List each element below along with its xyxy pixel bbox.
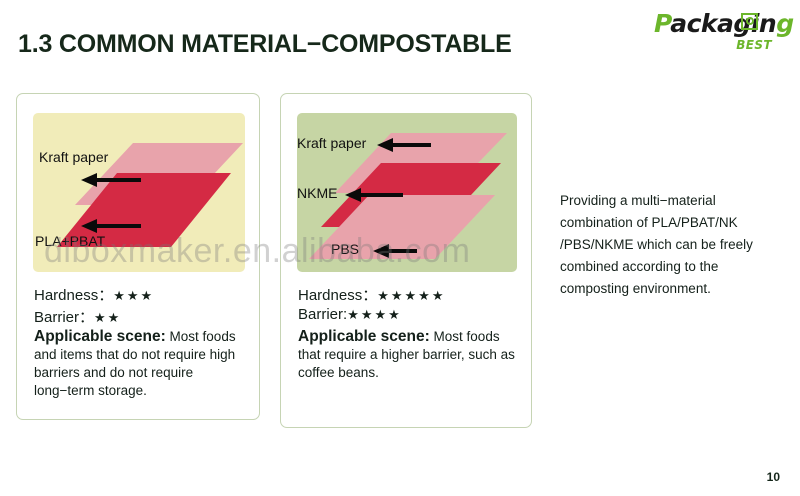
logo-tagline: BEST (654, 38, 772, 52)
hardness-stars-1: ★★★ (113, 288, 154, 303)
sheet-pbs (307, 193, 499, 287)
hardness-row-2: Hardness：★★★★★ (298, 284, 445, 305)
logo-letter-g: g (776, 9, 793, 38)
material-card-1: Kraft paper PLA+PBAT Hardness：★★★ Barrie… (16, 93, 260, 420)
hardness-row-1: Hardness：★★★ (34, 284, 154, 305)
logo-letter-p: P (654, 9, 670, 38)
layer-label-kraft-paper-2: Kraft paper (297, 135, 366, 151)
material-diagram-1: Kraft paper PLA+PBAT (33, 113, 245, 272)
material-diagram-2: Kraft paper NKME PBS (297, 113, 517, 272)
applicable-scene-label-2: Applicable scene: (298, 328, 430, 345)
barrier-row-1: Barrier：★★ (34, 306, 121, 327)
applicable-scene-2: Applicable scene: Most foods that requir… (298, 328, 521, 382)
material-card-2: Kraft paper NKME PBS Hardness：★★★★★ Barr… (280, 93, 532, 428)
arrow-kraft-paper-2-icon (377, 138, 433, 157)
applicable-scene-label-1: Applicable scene: (34, 328, 166, 345)
layer-label-kraft-paper: Kraft paper (39, 149, 108, 165)
brand-logo: Packaging BEST (654, 10, 784, 68)
hardness-label-1: Hardness： (34, 287, 113, 304)
arrow-pbs-icon (373, 244, 419, 263)
layer-label-pbs: PBS (331, 241, 359, 257)
barrier-stars-1: ★★ (94, 310, 121, 325)
layer-label-nkme: NKME (297, 185, 337, 201)
logo-letters-mid: ackagin (670, 9, 776, 38)
hardness-label-2: Hardness： (298, 287, 377, 304)
barrier-label-1: Barrier： (34, 309, 94, 326)
arrow-pla-pbat-icon (81, 219, 143, 238)
page-number: 10 (767, 470, 780, 484)
barrier-label-2: Barrier: (298, 306, 347, 323)
box-with-circle-icon (741, 13, 758, 30)
barrier-row-2: Barrier:★★★★ (298, 306, 402, 323)
applicable-scene-1: Applicable scene: Most foods and items t… (34, 328, 249, 400)
hardness-stars-2: ★★★★★ (377, 288, 445, 303)
barrier-stars-2: ★★★★ (347, 307, 402, 322)
arrow-nkme-icon (345, 188, 405, 207)
side-description: Providing a multi−material combination o… (560, 190, 790, 300)
page-title: 1.3 COMMON MATERIAL−COMPOSTABLE (18, 30, 512, 59)
logo-wordmark: Packaging (654, 10, 784, 38)
arrow-kraft-paper-icon (81, 173, 143, 192)
